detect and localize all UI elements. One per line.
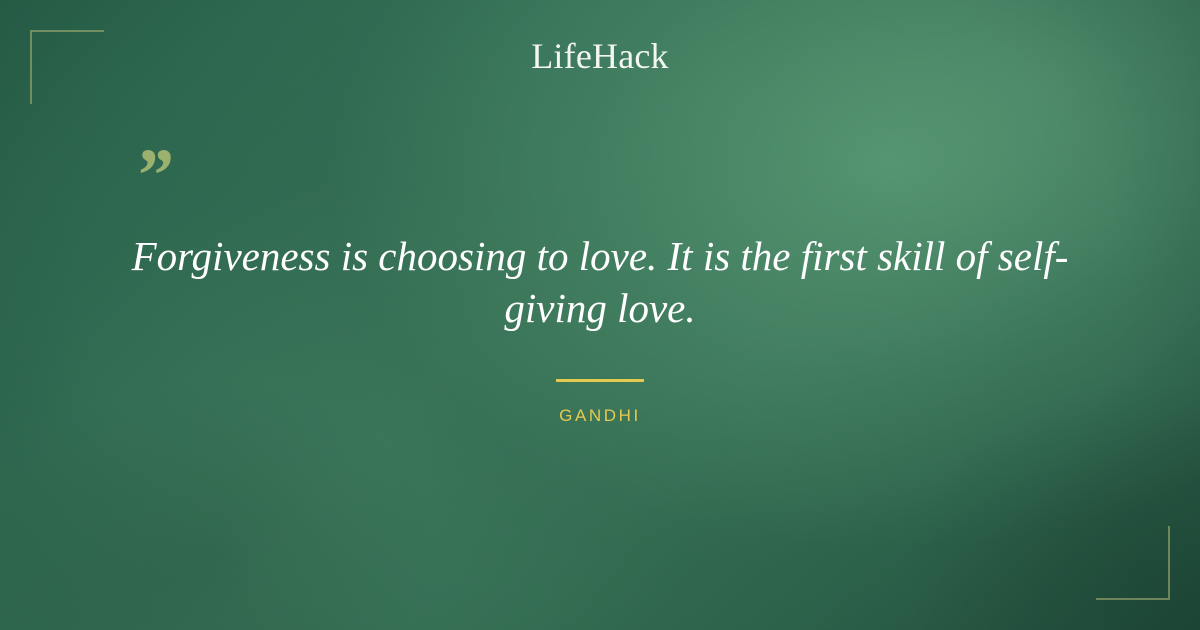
brand-logo: LifeHack [0,38,1200,74]
quote-text: Forgiveness is choosing to love. It is t… [100,230,1100,335]
quote-author: GANDHI [100,406,1100,426]
quote-card: LifeHack ” Forgiveness is choosing to lo… [0,0,1200,630]
divider [556,379,644,382]
quotation-mark-icon: ” [100,150,1100,206]
quote-content: ” Forgiveness is choosing to love. It is… [100,150,1100,426]
